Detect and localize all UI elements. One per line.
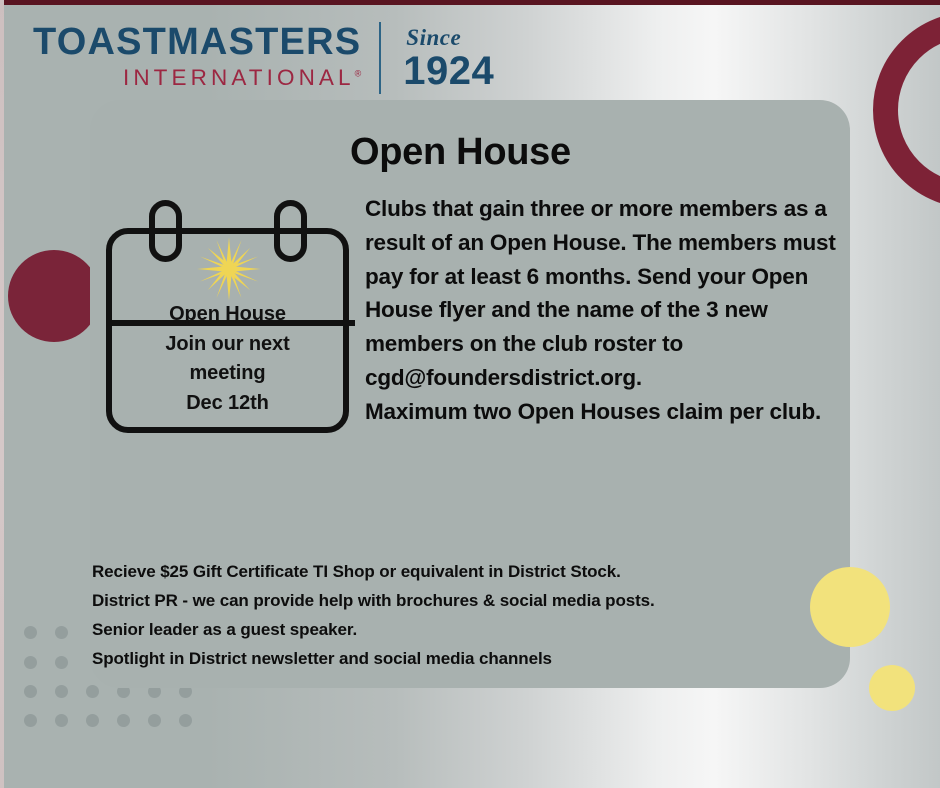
since-label: Since bbox=[406, 26, 461, 49]
body-line: result of an Open House. The members mus… bbox=[365, 226, 860, 395]
benefit-item: Spotlight in District newsletter and soc… bbox=[92, 644, 822, 673]
toastmasters-logo: TOASTMASTERS INTERNATIONAL® Since 1924 bbox=[33, 22, 494, 94]
starburst-icon bbox=[196, 236, 262, 302]
poster-canvas: TOASTMASTERS INTERNATIONAL® Since 1924 O… bbox=[0, 0, 940, 788]
calendar-text: Open House Join our next meeting Dec 12t… bbox=[116, 300, 339, 418]
maroon-circle-decoration bbox=[8, 250, 100, 342]
benefits-list: Recieve $25 Gift Certificate TI Shop or … bbox=[92, 557, 822, 673]
logo-name-main: TOASTMASTERS bbox=[33, 23, 361, 61]
body-line: Clubs that gain three or more members as… bbox=[365, 192, 860, 226]
yellow-circle-small-decoration bbox=[869, 665, 915, 711]
logo-wordmark: TOASTMASTERS INTERNATIONAL® bbox=[33, 23, 361, 92]
grid-dot bbox=[55, 685, 68, 698]
yellow-circle-large-decoration bbox=[810, 567, 890, 647]
grid-dot bbox=[24, 714, 37, 727]
body-line: Maximum two Open Houses claim per club. bbox=[365, 395, 860, 429]
grid-dot bbox=[24, 685, 37, 698]
grid-dot bbox=[55, 626, 68, 639]
grid-dot bbox=[55, 656, 68, 669]
grid-dot bbox=[179, 714, 192, 727]
maroon-ring-decoration bbox=[873, 12, 940, 208]
since-year: 1924 bbox=[403, 51, 494, 91]
calendar-line: meeting bbox=[116, 359, 339, 389]
grid-dot bbox=[86, 685, 99, 698]
grid-dot bbox=[55, 714, 68, 727]
since-block: Since 1924 bbox=[403, 26, 494, 91]
benefit-item: Senior leader as a guest speaker. bbox=[92, 615, 822, 644]
grid-dot bbox=[86, 714, 99, 727]
logo-divider bbox=[379, 22, 381, 94]
grid-dot bbox=[24, 626, 37, 639]
calendar-line: Join our next bbox=[116, 330, 339, 360]
left-edge-strip bbox=[0, 0, 4, 788]
logo-name-sub: INTERNATIONAL® bbox=[33, 64, 361, 92]
top-accent-bar bbox=[0, 0, 940, 5]
logo-name-sub-text: INTERNATIONAL bbox=[123, 65, 355, 90]
benefit-item: Recieve $25 Gift Certificate TI Shop or … bbox=[92, 557, 822, 586]
calendar-line: Dec 12th bbox=[116, 389, 339, 419]
benefit-item: District PR - we can provide help with b… bbox=[92, 586, 822, 615]
grid-dot bbox=[117, 714, 130, 727]
grid-dot bbox=[148, 714, 161, 727]
body-copy: Clubs that gain three or more members as… bbox=[365, 192, 860, 429]
registered-mark-icon: ® bbox=[355, 69, 362, 79]
grid-dot bbox=[24, 656, 37, 669]
calendar-line: Open House bbox=[116, 300, 339, 330]
page-title: Open House bbox=[350, 131, 571, 174]
